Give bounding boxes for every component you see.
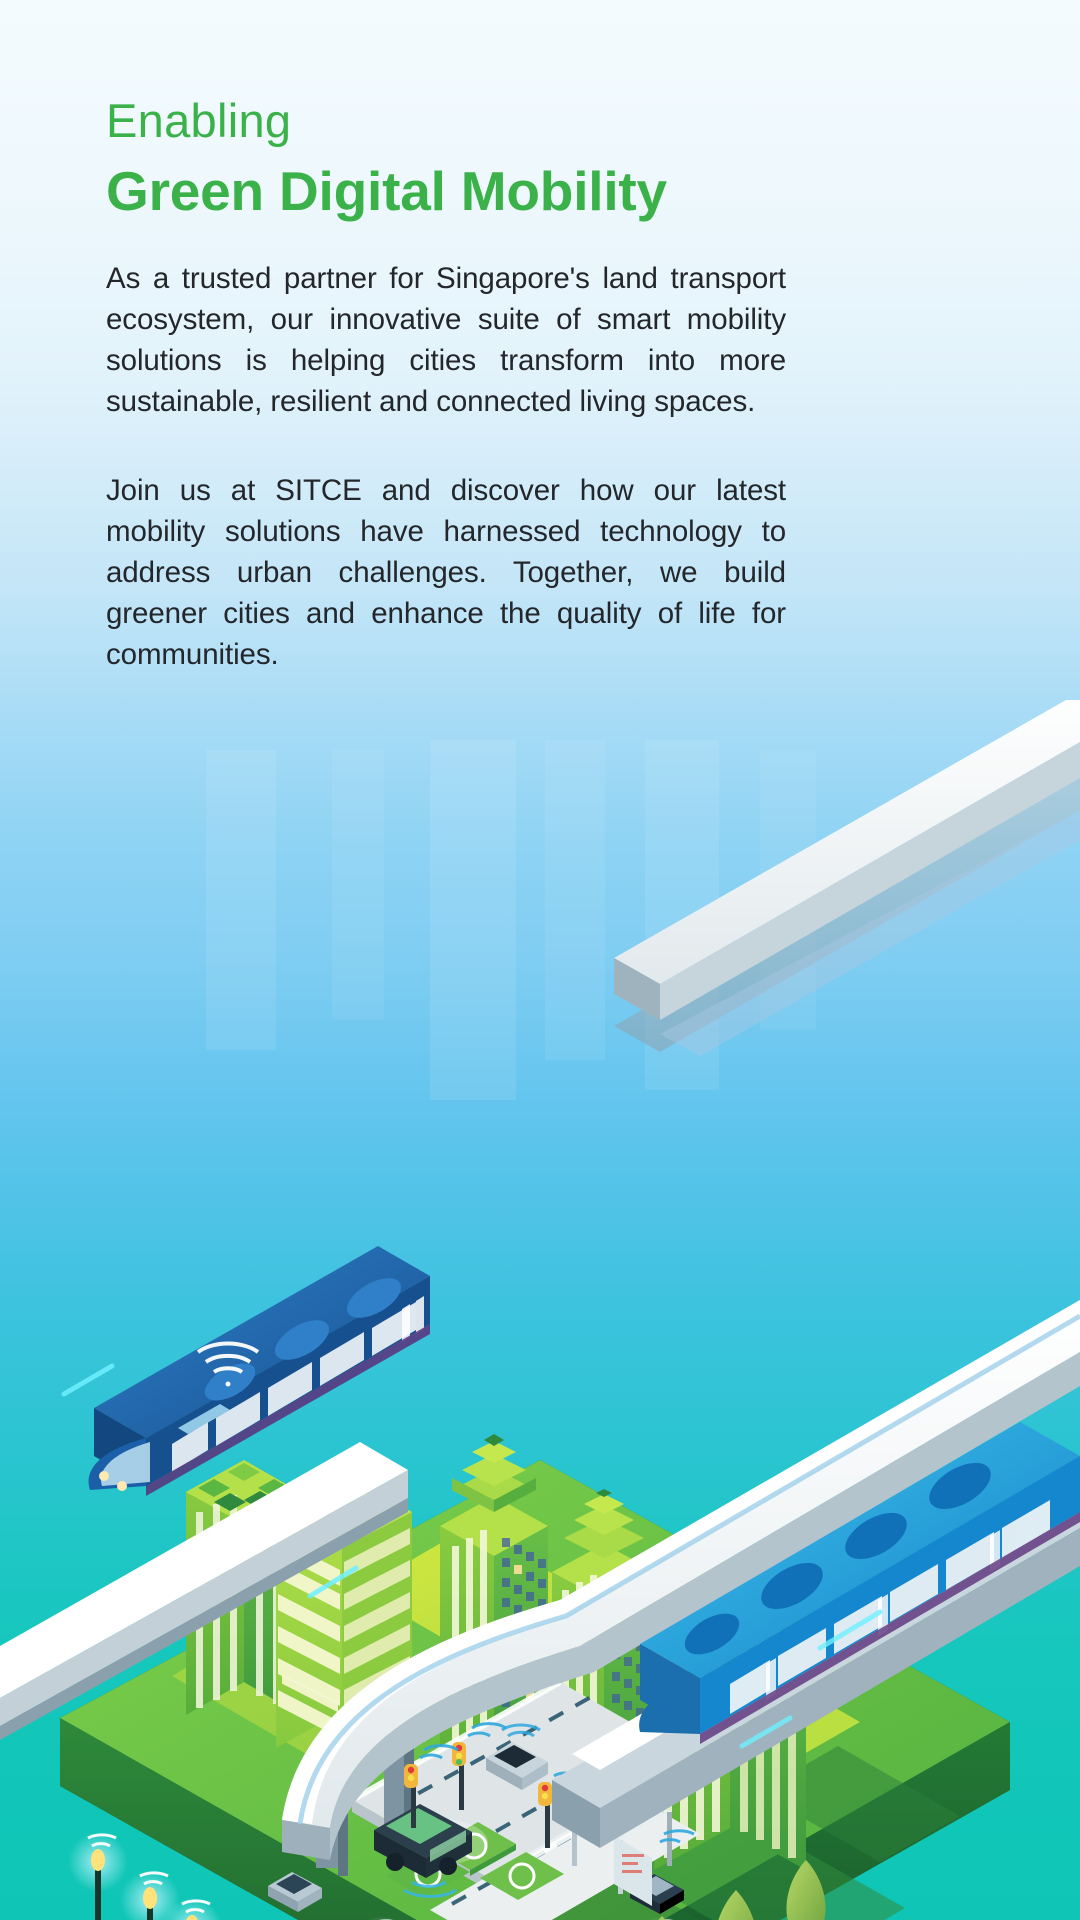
smart-lamp [68,1832,128,1920]
paragraph-two: Join us at SITCE and discover how our la… [106,470,786,675]
elevated-highway [614,700,1080,1056]
poster-copy: Enabling Green Digital Mobility As a tru… [106,92,786,675]
poster-root: Enabling Green Digital Mobility As a tru… [0,0,1080,1920]
paragraph-one: As a trusted partner for Singapore's lan… [106,258,786,422]
eyebrow-text: Enabling [106,92,786,150]
page-title: Green Digital Mobility [106,158,786,224]
smart-city-illustration [0,700,1080,1920]
